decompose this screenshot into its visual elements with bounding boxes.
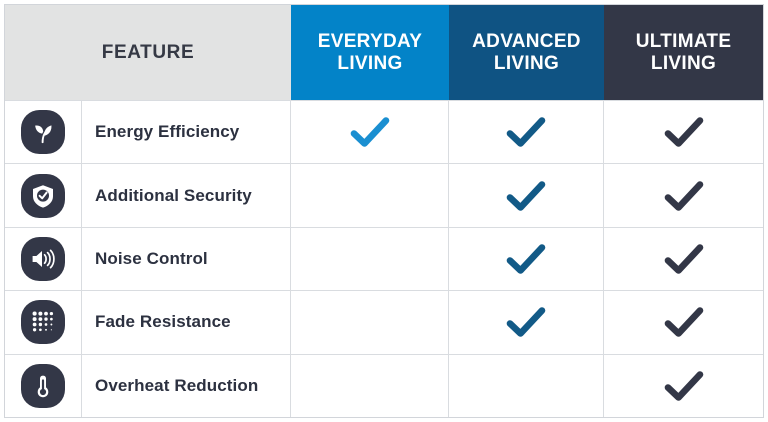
feature-label: Noise Control (95, 249, 208, 269)
cell-ultimate-noise-control (604, 227, 763, 290)
speaker-sound-icon (21, 237, 65, 281)
check-icon (662, 242, 706, 276)
row-icon-cell (5, 163, 82, 226)
header-cell-feature: FEATURE (5, 5, 291, 100)
header-feature-label: FEATURE (102, 42, 195, 64)
row-label-cell: Overheat Reduction (82, 354, 291, 417)
cell-advanced-noise-control (449, 227, 604, 290)
cell-ultimate-additional-security (604, 163, 763, 226)
cell-ultimate-fade-resistance (604, 290, 763, 353)
check-icon (504, 242, 548, 276)
check-icon (504, 115, 548, 149)
feature-label: Energy Efficiency (95, 122, 239, 142)
cell-ultimate-energy-efficiency (604, 100, 763, 163)
cell-everyday-noise-control (291, 227, 449, 290)
header-advanced-line1: ADVANCED (472, 31, 581, 52)
header-ultimate-living-label: ULTIMATE LIVING (636, 31, 732, 74)
cell-everyday-energy-efficiency (291, 100, 449, 163)
header-advanced-line2: LIVING (494, 53, 559, 74)
check-icon (662, 305, 706, 339)
header-cell-ultimate-living: ULTIMATE LIVING (604, 5, 763, 100)
feature-comparison-table: FEATURE EVERYDAY LIVING ADVANCED LIVING … (4, 4, 764, 418)
row-label-cell: Noise Control (82, 227, 291, 290)
header-everyday-line1: EVERYDAY (318, 31, 422, 52)
row-label-cell: Energy Efficiency (82, 100, 291, 163)
check-icon (662, 179, 706, 213)
cell-ultimate-overheat-reduction (604, 354, 763, 417)
row-icon-cell (5, 227, 82, 290)
row-label-cell: Additional Security (82, 163, 291, 226)
cell-advanced-additional-security (449, 163, 604, 226)
cell-everyday-fade-resistance (291, 290, 449, 353)
cell-everyday-additional-security (291, 163, 449, 226)
row-icon-cell (5, 290, 82, 353)
header-everyday-line2: LIVING (337, 53, 402, 74)
header-ultimate-line2: LIVING (651, 53, 716, 74)
row-icon-cell (5, 354, 82, 417)
thermometer-icon (21, 364, 65, 408)
feature-label: Additional Security (95, 186, 252, 206)
header-cell-everyday-living: EVERYDAY LIVING (291, 5, 449, 100)
check-icon (348, 115, 392, 149)
header-advanced-living-label: ADVANCED LIVING (472, 31, 581, 74)
row-icon-cell (5, 100, 82, 163)
header-everyday-living-label: EVERYDAY LIVING (318, 31, 422, 74)
check-icon (504, 305, 548, 339)
header-ultimate-line1: ULTIMATE (636, 31, 732, 52)
feature-label: Fade Resistance (95, 312, 231, 332)
check-icon (504, 179, 548, 213)
cell-advanced-fade-resistance (449, 290, 604, 353)
cell-advanced-energy-efficiency (449, 100, 604, 163)
shield-check-icon (21, 174, 65, 218)
fading-dot-grid-icon (21, 300, 65, 344)
cell-everyday-overheat-reduction (291, 354, 449, 417)
check-icon (662, 369, 706, 403)
cell-advanced-overheat-reduction (449, 354, 604, 417)
check-icon (662, 115, 706, 149)
leaf-icon (21, 110, 65, 154)
header-cell-advanced-living: ADVANCED LIVING (449, 5, 604, 100)
row-label-cell: Fade Resistance (82, 290, 291, 353)
feature-label: Overheat Reduction (95, 376, 258, 396)
